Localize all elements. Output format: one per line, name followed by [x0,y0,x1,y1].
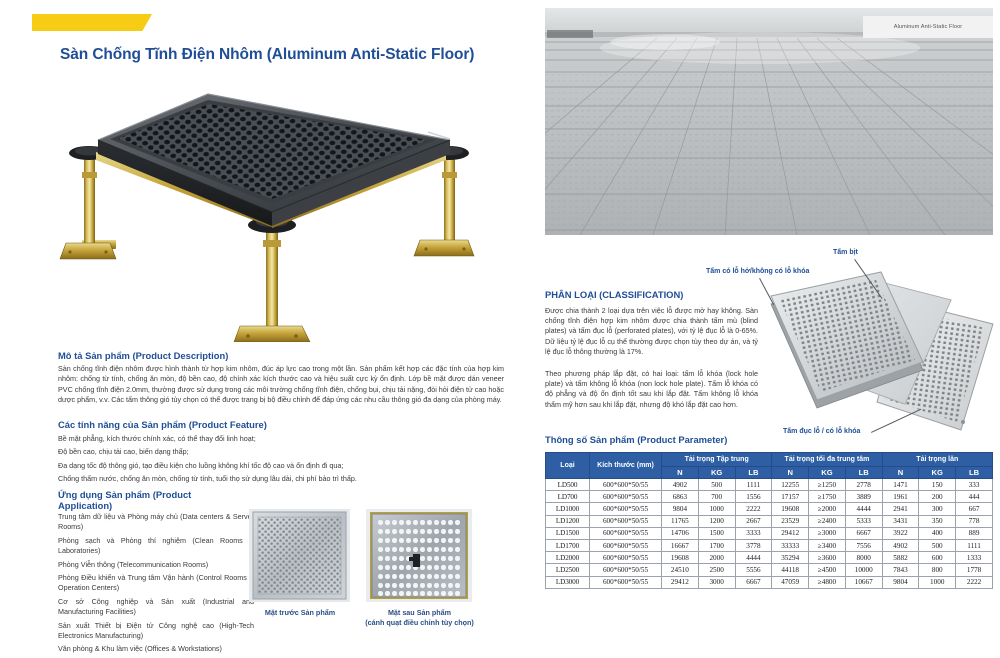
table-cell: 1111 [956,539,993,551]
table-cell: 7556 [845,539,882,551]
table-cell: ≥4500 [809,564,846,576]
table-cell: 600*600*50/55 [590,503,662,515]
table-cell: 600*600*50/55 [590,539,662,551]
table-cell: 4444 [735,552,772,564]
table-row: LD1200600*600*50/55117651200266723529≥24… [546,515,993,527]
table-cell: 800 [919,564,956,576]
table-head: Loại Kích thước (mm) Tải trọng Tập trung… [546,453,993,479]
table-cell: 1333 [956,552,993,564]
table-cell: 24510 [662,564,699,576]
table-cell: 8000 [845,552,882,564]
table-cell: LD1200 [546,515,590,527]
table-cell: ≥4800 [809,576,846,588]
table-cell: 350 [919,515,956,527]
table-cell: 33333 [772,539,809,551]
application-item: Văn phòng & Khu làm việc (Offices & Work… [58,644,254,654]
table-row: LD2500600*600*50/55245102500555644118≥45… [546,564,993,576]
table-cell: 6863 [662,491,699,503]
back-face-image [366,509,472,602]
table-cell: 600*600*50/55 [590,564,662,576]
application-item: Phòng Điều khiển và Trung tâm Vận hành (… [58,573,254,594]
table-body: LD500600*600*50/554902500111112255≥12502… [546,479,993,589]
table-cell: 11765 [662,515,699,527]
feature-item: Độ bền cao, chịu tải cao, biến dạng thấp… [58,447,504,457]
col-kich-thuoc: Kích thước (mm) [590,453,662,479]
col-group-tai-trong-toi-da-trung-tam: Tải trọng tối đa trung tâm [772,453,882,467]
table-cell: LD3000 [546,576,590,588]
table-cell: 600*600*50/55 [590,527,662,539]
table-cell: 3922 [882,527,919,539]
front-face-image [249,509,350,602]
table-cell: 9804 [662,503,699,515]
table-cell: 1200 [698,515,735,527]
subcol-n-3: N [882,467,919,479]
table-cell: 3431 [882,515,919,527]
table-cell: 2000 [698,552,735,564]
subcol-lb-1: LB [735,467,772,479]
table-cell: ≥1750 [809,491,846,503]
table-cell: 19608 [772,503,809,515]
back-face-caption: Mặt sau Sản phẩm (cánh quạt điều chỉnh t… [352,608,487,627]
table-group-header-row: Loại Kích thước (mm) Tải trọng Tập trung… [546,453,993,467]
front-face-caption: Mặt trước Sản phẩm [240,608,360,618]
table-cell: 3000 [698,576,735,588]
table-cell: 6667 [735,576,772,588]
table-cell: 1500 [698,527,735,539]
table-cell: 200 [919,491,956,503]
table-cell: LD1700 [546,539,590,551]
table-cell: 2667 [735,515,772,527]
table-cell: 29412 [662,576,699,588]
table-cell: 9804 [882,576,919,588]
application-item: Trung tâm dữ liệu và Phòng máy chủ (Data… [58,512,254,533]
table-cell: ≥2000 [809,503,846,515]
table-row: LD3000600*600*50/55294123000666747059≥48… [546,576,993,588]
table-cell: 5556 [735,564,772,576]
table-row: LD1500600*600*50/55147061500333329412≥30… [546,527,993,539]
installation-photo: Aluminum Anti-Static Floor [545,8,993,235]
table-cell: 5882 [882,552,919,564]
table-cell: 600*600*50/55 [590,515,662,527]
table-cell: 4444 [845,503,882,515]
table-cell: 2500 [698,564,735,576]
table-row: LD700600*600*50/556863700155617157≥17503… [546,491,993,503]
table-cell: 5333 [845,515,882,527]
table-cell: 23529 [772,515,809,527]
table-cell: ≥3600 [809,552,846,564]
table-cell: ≥1250 [809,479,846,491]
application-item: Phòng sạch và Phòng thí nghiệm (Clean Ro… [58,536,254,557]
table-cell: 600*600*50/55 [590,479,662,491]
table-cell: 4902 [882,539,919,551]
classification-paragraph-1: Được chia thành 2 loại dựa trên việc lỗ … [545,306,758,357]
table-cell: 1000 [698,503,735,515]
table-cell: 2941 [882,503,919,515]
table-cell: 400 [919,527,956,539]
product-parameter-table: Loại Kích thước (mm) Tải trọng Tập trung… [545,452,993,589]
product-parameter-heading: Thông số Sản phẩm (Product Parameter) [545,434,727,445]
subcol-lb-3: LB [956,467,993,479]
table-cell: 17157 [772,491,809,503]
table-cell: 1471 [882,479,919,491]
table-cell: 44118 [772,564,809,576]
table-cell: LD1000 [546,503,590,515]
table-cell: 3333 [735,527,772,539]
table-cell: 600*600*50/55 [590,576,662,588]
table-cell: LD500 [546,479,590,491]
table-cell: LD2000 [546,552,590,564]
table-cell: 1556 [735,491,772,503]
table-row: LD2000600*600*50/55196082000444435294≥36… [546,552,993,564]
table-cell: 10667 [845,576,882,588]
annotation-perforated-no-lock: Tấm có lỗ hở/không có lỗ khóa [706,268,809,275]
table-cell: 778 [956,515,993,527]
application-item: Sản xuất Thiết bị Điện tử Công nghệ cao … [58,621,254,642]
table-cell: 3889 [845,491,882,503]
product-application-heading: Ứng dụng Sản phẩm (Product Application) [58,489,218,511]
table-cell: LD2500 [546,564,590,576]
table-cell: 444 [956,491,993,503]
table-cell: 600*600*50/55 [590,491,662,503]
table-row: LD500600*600*50/554902500111112255≥12502… [546,479,993,491]
table-cell: 333 [956,479,993,491]
table-cell: 1961 [882,491,919,503]
col-group-tai-trong-lan: Tải trọng lăn [882,453,992,467]
table-cell: 2778 [845,479,882,491]
table-cell: 35294 [772,552,809,564]
feature-item: Chống thấm nước, chống ăn mòn, chống từ … [58,474,504,484]
table-cell: 1700 [698,539,735,551]
application-item: Cơ sở Công nghiệp và Sản xuất (Industria… [58,597,254,618]
table-cell: 10000 [845,564,882,576]
table-cell: 1000 [919,576,956,588]
table-cell: 500 [698,479,735,491]
yellow-accent-bar [32,14,152,31]
datasheet-page: Sàn Chống Tĩnh Điện Nhôm (Aluminum Anti-… [0,0,1000,658]
annotation-blind-plate: Tấm bịt [833,249,858,256]
hero-product-image [58,80,503,342]
table-cell: 2222 [735,503,772,515]
classification-paragraph-2: Theo phương pháp lắp đặt, có hai loại: t… [545,369,758,410]
back-face-caption-line2: (cánh quạt điều chỉnh tùy chọn) [352,618,487,628]
back-face-caption-line1: Mặt sau Sản phẩm [352,608,487,618]
classification-plates-image [755,262,1000,437]
table-cell: 47059 [772,576,809,588]
table-cell: 1778 [956,564,993,576]
col-loai: Loại [546,453,590,479]
product-feature-list: Bề mặt phẳng, kích thước chính xác, có t… [58,434,504,488]
left-column: Sàn Chống Tĩnh Điện Nhôm (Aluminum Anti-… [0,0,535,658]
table-cell: 14706 [662,527,699,539]
table-cell: ≥3400 [809,539,846,551]
annotation-perforated-lock: Tấm đục lỗ / có lỗ khóa [783,428,860,435]
table-cell: 150 [919,479,956,491]
table-cell: 3778 [735,539,772,551]
product-description-body: Sàn chống tĩnh điện nhôm được hình thành… [58,364,504,406]
table-cell: 19608 [662,552,699,564]
table-cell: ≥2400 [809,515,846,527]
table-row: LD1000600*600*50/5598041000222219608≥200… [546,503,993,515]
subcol-kg-3: KG [919,467,956,479]
table-cell: 600*600*50/55 [590,552,662,564]
table-cell: 7843 [882,564,919,576]
product-description-heading: Mô tả Sản phẩm (Product Description) [58,350,498,362]
table-cell: 6667 [845,527,882,539]
table-cell: 1111 [735,479,772,491]
subcol-n-1: N [662,467,699,479]
table-cell: 600 [919,552,956,564]
table-cell: 2222 [956,576,993,588]
table-cell: ≥3000 [809,527,846,539]
table-cell: LD1500 [546,527,590,539]
product-feature-heading: Các tính năng của Sản phẩm (Product Feat… [58,419,498,431]
feature-item: Bề mặt phẳng, kích thước chính xác, có t… [58,434,504,444]
subcol-kg-2: KG [809,467,846,479]
table-cell: 667 [956,503,993,515]
table-cell: 16667 [662,539,699,551]
table-cell: 29412 [772,527,809,539]
table-cell: 500 [919,539,956,551]
table-cell: LD700 [546,491,590,503]
classification-heading: PHÂN LOẠI (CLASSIFICATION) [545,289,765,300]
table-cell: 12255 [772,479,809,491]
photo-badge: Aluminum Anti-Static Floor [863,16,993,38]
application-item: Phòng Viễn thông (Telecommunication Room… [58,560,254,570]
page-title: Sàn Chống Tĩnh Điện Nhôm (Aluminum Anti-… [60,46,520,64]
table-cell: 300 [919,503,956,515]
feature-item: Đa dạng tốc độ thông gió, tạo điều kiện … [58,461,504,471]
product-application-list: Trung tâm dữ liệu và Phòng máy chủ (Data… [58,512,254,658]
table-cell: 700 [698,491,735,503]
col-group-tai-trong-tap-trung: Tải trọng Tập trung [662,453,772,467]
subcol-kg-1: KG [698,467,735,479]
subcol-n-2: N [772,467,809,479]
subcol-lb-2: LB [845,467,882,479]
table-cell: 889 [956,527,993,539]
table-cell: 4902 [662,479,699,491]
table-row: LD1700600*600*50/55166671700377833333≥34… [546,539,993,551]
